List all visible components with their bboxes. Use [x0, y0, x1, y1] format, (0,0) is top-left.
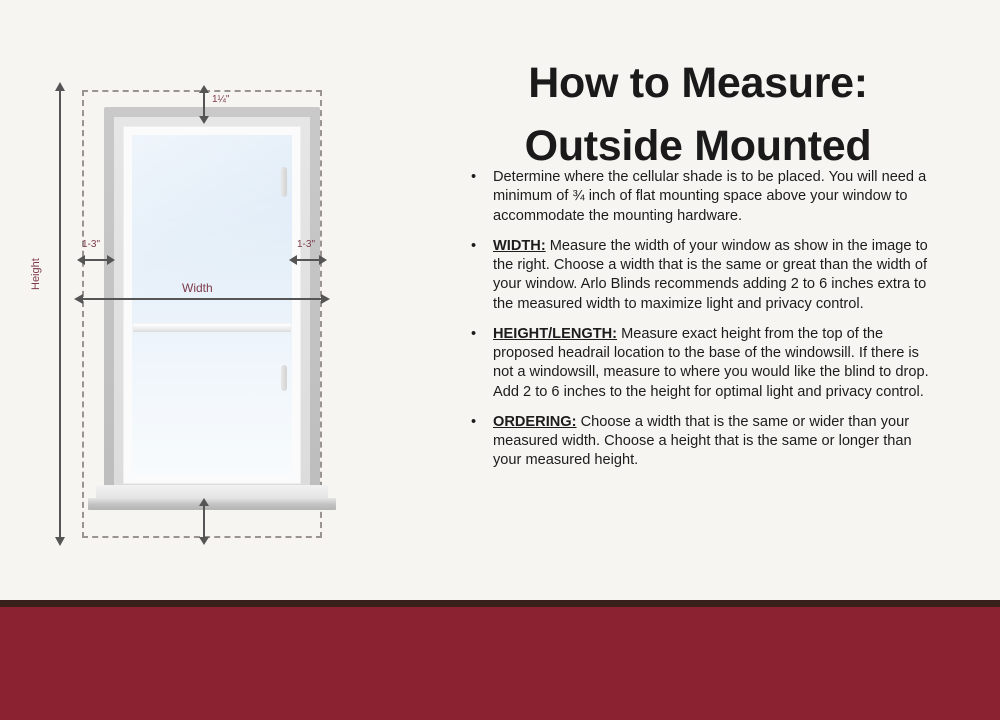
width-dimension-label: Width — [182, 281, 213, 295]
bullet-lead-label: HEIGHT/LENGTH: — [493, 326, 617, 342]
top-gap-arrow — [203, 92, 205, 117]
bullet-marker: • — [471, 237, 476, 256]
right-overlap-arrow — [296, 259, 320, 261]
bullet-lead-label: WIDTH: — [493, 238, 546, 254]
list-item: •WIDTH: Measure the width of your window… — [468, 237, 938, 314]
content-panel: How to Measure: Outside Mounted •Determi… — [460, 0, 1000, 600]
list-item: •HEIGHT/LENGTH: Measure exact height fro… — [468, 325, 938, 402]
window-diagram: Height Width 1¼" 1-3" 1-3" — [0, 0, 460, 600]
window-glass — [132, 135, 292, 475]
window-latch-lower-icon — [281, 365, 287, 391]
right-overlap-label: 1-3" — [297, 239, 315, 250]
bullet-lead-label: ORDERING: — [493, 414, 577, 430]
window-casing-inner — [114, 117, 310, 493]
footer-bar — [0, 600, 1000, 720]
list-item: •ORDERING: Choose a width that is the sa… — [468, 413, 938, 471]
page-root: Height Width 1¼" 1-3" 1-3" How to Measur… — [0, 0, 1000, 720]
list-item: •Determine where the cellular shade is t… — [468, 168, 938, 226]
window-sash — [123, 126, 301, 484]
window-sash-rail — [133, 323, 291, 332]
bullet-marker: • — [471, 325, 476, 344]
bullet-marker: • — [471, 168, 476, 187]
page-title: How to Measure: Outside Mounted — [460, 52, 936, 178]
height-dimension-arrow — [59, 90, 61, 538]
bullet-text: Measure the width of your window as show… — [493, 238, 928, 312]
bottom-overhang-arrow — [203, 505, 205, 538]
left-overlap-arrow — [84, 259, 108, 261]
height-dimension-label: Height — [30, 258, 42, 290]
left-overlap-label: 1-3" — [82, 239, 100, 250]
width-dimension-arrow — [82, 298, 322, 300]
window-casing — [104, 107, 320, 503]
bullet-text: Determine where the cellular shade is to… — [493, 169, 926, 224]
top-gap-label: 1¼" — [212, 94, 229, 105]
page-title-line-1: How to Measure: — [460, 52, 936, 115]
bullet-marker: • — [471, 413, 476, 432]
instruction-list: •Determine where the cellular shade is t… — [468, 168, 938, 482]
window-sill — [88, 498, 336, 510]
window-latch-upper-icon — [281, 167, 287, 197]
